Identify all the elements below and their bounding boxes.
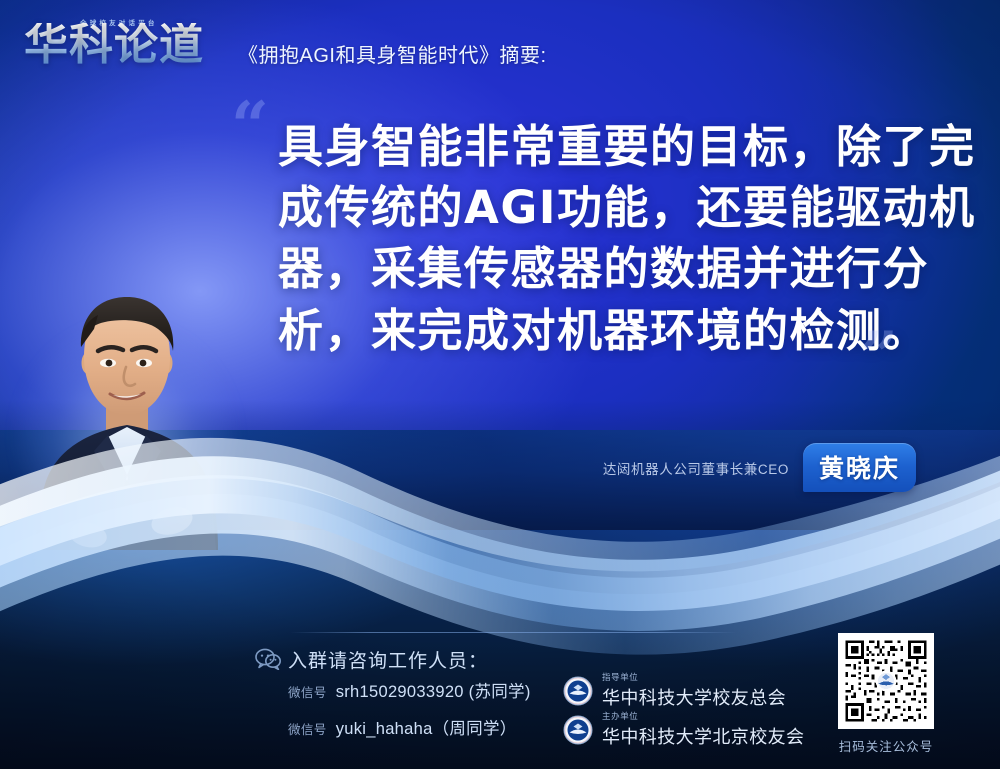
organization-text-2: 主办单位 华中科技大学北京校友会 bbox=[602, 710, 804, 749]
footer-divider bbox=[290, 632, 737, 633]
wechat-icon bbox=[255, 648, 281, 670]
qr-caption: 扫码关注公众号 bbox=[839, 736, 934, 755]
header-bar: 全球校友对话平台 华科论道 《拥抱AGI和具身智能时代》摘要: bbox=[0, 0, 1000, 92]
quote-open-mark: “ bbox=[231, 100, 269, 153]
quote-line-1: 具身智能非常重要的目标，除了完 bbox=[278, 116, 942, 177]
quote-line-4: 析，来完成对机器环境的检测。 bbox=[278, 300, 942, 361]
contact-value-2[interactable]: yuki_hahaha（周同学） bbox=[336, 715, 517, 739]
contact-row-2: 微信号 yuki_hahaha（周同学） bbox=[288, 715, 517, 739]
contact-label-1: 微信号 bbox=[288, 682, 327, 701]
speaker-portrait bbox=[22, 285, 232, 550]
contact-label-2: 微信号 bbox=[288, 719, 327, 738]
hust-emblem-icon bbox=[563, 676, 593, 706]
organization-name-1: 华中科技大学校友总会 bbox=[602, 684, 786, 710]
attribution-row: 达闼机器人公司董事长兼CEO 黄晓庆 bbox=[0, 443, 916, 492]
speaker-name-badge: 黄晓庆 bbox=[803, 443, 916, 492]
contact-row-1: 微信号 srh15029033920 (苏同学) bbox=[288, 678, 531, 702]
quote-text-block: 具身智能非常重要的目标，除了完 成传统的AGI功能，还要能驱动机 器，采集传感器… bbox=[278, 116, 942, 361]
organization-name-2: 华中科技大学北京校友会 bbox=[602, 723, 804, 749]
speaker-role: 达闼机器人公司董事长兼CEO bbox=[603, 458, 789, 478]
organization-row-2: 主办单位 华中科技大学北京校友会 bbox=[563, 710, 804, 749]
quote-line-3: 器，采集传感器的数据并进行分 bbox=[278, 238, 942, 299]
footer-heading: 入群请咨询工作人员： bbox=[288, 646, 488, 673]
organization-text-1: 指导单位 华中科技大学校友总会 bbox=[602, 671, 786, 710]
logo-wordmark: 华科论道 bbox=[24, 23, 204, 67]
portrait-illustration bbox=[22, 285, 232, 550]
organization-kind-1: 指导单位 bbox=[602, 671, 786, 683]
hust-emblem-icon bbox=[563, 715, 593, 745]
page-title: 《拥抱AGI和具身智能时代》摘要: bbox=[238, 39, 547, 68]
qr-code[interactable] bbox=[838, 633, 934, 729]
organization-row-1: 指导单位 华中科技大学校友总会 bbox=[563, 671, 786, 710]
quote-line-2: 成传统的AGI功能，还要能驱动机 bbox=[278, 177, 942, 238]
brand-logo[interactable]: 全球校友对话平台 华科论道 bbox=[24, 15, 220, 77]
poster-canvas: 全球校友对话平台 华科论道 《拥抱AGI和具身智能时代》摘要: bbox=[0, 0, 1000, 769]
quote-close-mark: ” bbox=[860, 330, 898, 383]
speaker-name: 黄晓庆 bbox=[819, 455, 900, 483]
qr-block: 扫码关注公众号 bbox=[838, 633, 934, 755]
organization-kind-2: 主办单位 bbox=[602, 710, 804, 722]
contact-value-1[interactable]: srh15029033920 (苏同学) bbox=[336, 678, 531, 702]
